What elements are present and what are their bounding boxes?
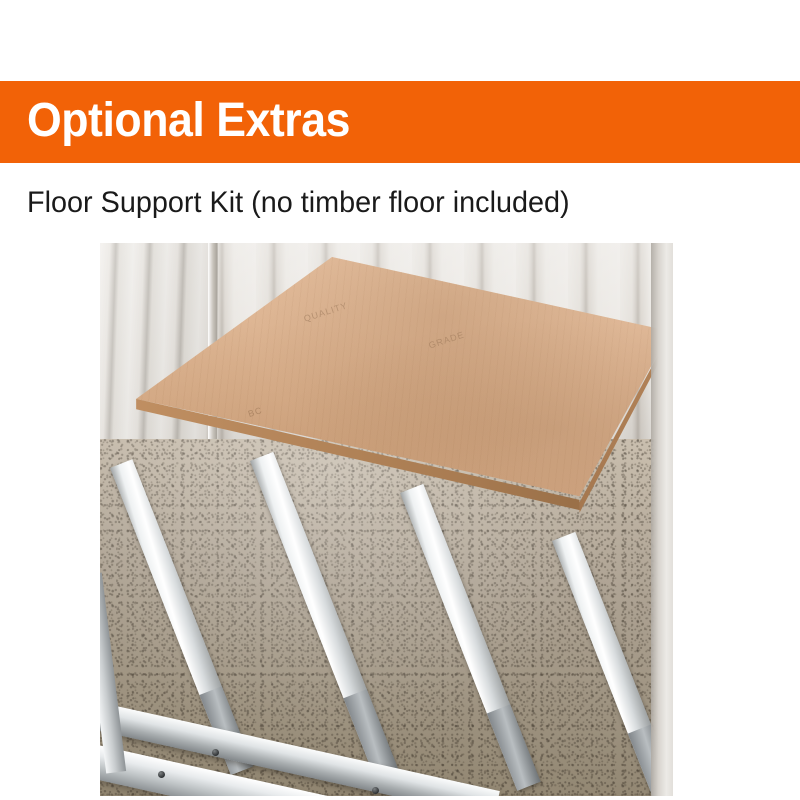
photo-scene: QUALITY GRADE BC xyxy=(100,243,673,796)
page-title: Optional Extras xyxy=(27,88,350,154)
plywood-stamp: GRADE xyxy=(427,330,465,351)
page-root: Optional Extras Floor Support Kit (no ti… xyxy=(0,0,800,800)
rail-bolt xyxy=(372,787,379,794)
shed-right-trim xyxy=(651,243,673,796)
plywood-stamp: QUALITY xyxy=(303,300,349,324)
rail-bolt xyxy=(158,771,165,778)
product-photo: QUALITY GRADE BC xyxy=(100,243,673,796)
rail-bolt xyxy=(212,749,219,756)
plywood-stamp: BC xyxy=(247,405,264,419)
product-subtitle: Floor Support Kit (no timber floor inclu… xyxy=(27,183,570,223)
